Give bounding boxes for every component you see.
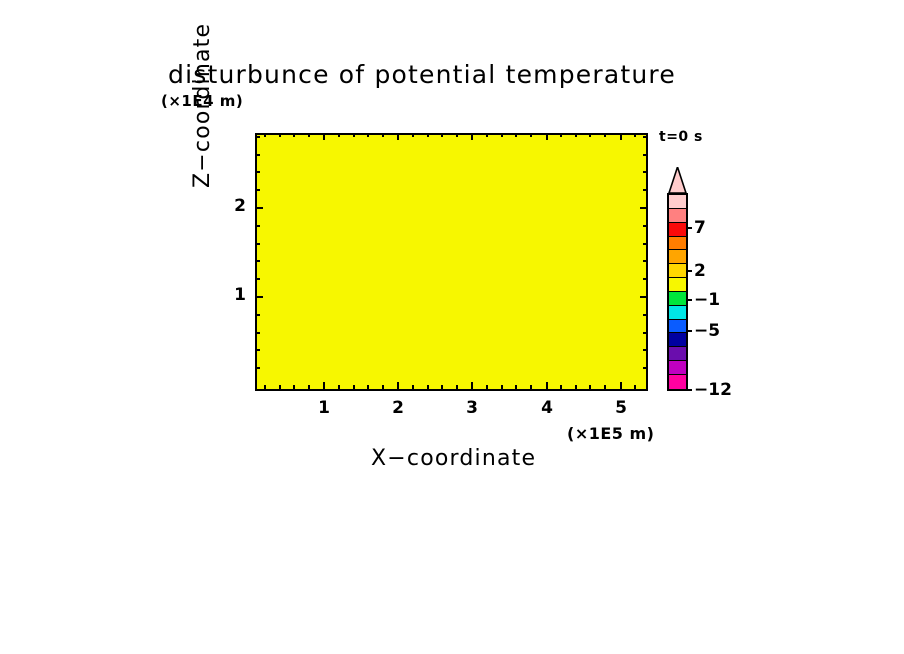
- x-axis-minor-tick: [264, 385, 266, 390]
- x-axis-minor-tick: [515, 385, 517, 390]
- y-axis-minor-tick: [643, 225, 647, 227]
- x-axis-minor-tick: [427, 133, 429, 137]
- x-axis-minor-tick: [604, 133, 606, 137]
- x-axis-minor-tick: [279, 133, 281, 137]
- x-axis-major-tick: [323, 382, 325, 390]
- y-axis-minor-tick: [255, 332, 260, 334]
- x-axis-minor-tick: [441, 385, 443, 390]
- plot-area[interactable]: [255, 133, 648, 391]
- y-axis-minor-tick: [643, 154, 647, 156]
- y-axis-minor-tick: [255, 260, 260, 262]
- colorbar-band-13: [669, 195, 686, 209]
- colorbar-band-4: [669, 320, 686, 334]
- x-axis-minor-tick: [279, 385, 281, 390]
- x-axis-minor-tick: [589, 385, 591, 390]
- colorbar-band-10: [669, 237, 686, 251]
- x-axis-minor-tick: [530, 133, 532, 137]
- colorbar-band-8: [669, 264, 686, 278]
- colorbar-tick-label: 7: [694, 218, 706, 238]
- colorbar-band-3: [669, 333, 686, 347]
- x-axis-minor-tick: [353, 385, 355, 390]
- x-axis-minor-tick: [604, 385, 606, 390]
- colorbar-tick: [688, 227, 692, 229]
- x-axis-minor-tick: [367, 133, 369, 137]
- y-axis-minor-tick: [643, 189, 647, 191]
- colorbar-band-12: [669, 209, 686, 223]
- y-axis-major-tick: [640, 296, 647, 298]
- colorbar-tick-label: −12: [694, 380, 732, 400]
- colorbar-tick-label: −1: [694, 290, 720, 310]
- x-axis-minor-tick: [293, 133, 295, 137]
- y-axis-minor-tick: [255, 225, 260, 227]
- colorbar-extend-arrow-icon: [667, 167, 688, 193]
- colorbar-tick: [688, 389, 692, 391]
- y-axis-minor-tick: [643, 243, 647, 245]
- y-axis-tick-label: 2: [222, 196, 246, 216]
- x-axis-minor-tick: [486, 133, 488, 137]
- y-axis-minor-tick: [643, 314, 647, 316]
- colorbar-band-5: [669, 306, 686, 320]
- y-axis-minor-tick: [643, 367, 647, 369]
- x-axis-major-tick: [397, 133, 399, 140]
- x-axis-minor-tick: [456, 133, 458, 137]
- colorbar-band-11: [669, 223, 686, 237]
- x-axis-minor-tick: [427, 385, 429, 390]
- x-axis-minor-tick: [412, 385, 414, 390]
- x-axis-major-tick: [620, 133, 622, 140]
- y-axis-minor-tick: [255, 189, 260, 191]
- y-axis-minor-tick: [643, 278, 647, 280]
- x-axis-unit-label: (×1E5 m): [567, 424, 654, 443]
- y-axis-major-tick: [255, 296, 263, 298]
- colorbar-band-1: [669, 361, 686, 375]
- y-axis-major-tick: [255, 207, 263, 209]
- x-axis-minor-tick: [338, 385, 340, 390]
- y-axis-minor-tick: [643, 332, 647, 334]
- x-axis-minor-tick: [575, 385, 577, 390]
- x-axis-minor-tick: [501, 133, 503, 137]
- x-axis-major-tick: [620, 382, 622, 390]
- x-axis-minor-tick: [530, 385, 532, 390]
- y-axis-minor-tick: [255, 171, 260, 173]
- contour-field-fill: [257, 135, 646, 389]
- x-axis-minor-tick: [308, 385, 310, 390]
- colorbar-tick: [688, 330, 692, 332]
- y-axis-minor-tick: [255, 278, 260, 280]
- y-axis-minor-tick: [643, 171, 647, 173]
- x-axis-minor-tick: [293, 385, 295, 390]
- x-axis-major-tick: [323, 133, 325, 140]
- x-axis-tick-label: 4: [535, 398, 559, 418]
- x-axis-minor-tick: [441, 133, 443, 137]
- colorbar-tick: [688, 270, 692, 272]
- colorbar-band-2: [669, 347, 686, 361]
- x-axis-minor-tick: [589, 133, 591, 137]
- x-axis-major-tick: [471, 133, 473, 140]
- x-axis-minor-tick: [338, 133, 340, 137]
- colorbar-band-9: [669, 250, 686, 264]
- x-axis-minor-tick: [501, 385, 503, 390]
- colorbar-tick: [688, 299, 692, 301]
- x-axis-minor-tick: [634, 133, 636, 137]
- y-axis-minor-tick: [255, 154, 260, 156]
- y-axis-tick-label: 1: [222, 285, 246, 305]
- page-title: disturbunce of potential temperature: [168, 60, 676, 89]
- x-axis-minor-tick: [412, 133, 414, 137]
- y-axis-minor-tick: [255, 136, 260, 138]
- x-axis-minor-tick: [486, 385, 488, 390]
- x-axis-minor-tick: [560, 133, 562, 137]
- y-axis-minor-tick: [255, 314, 260, 316]
- x-axis-major-tick: [546, 133, 548, 140]
- x-axis-minor-tick: [575, 133, 577, 137]
- x-axis-minor-tick: [353, 133, 355, 137]
- x-axis-tick-label: 2: [386, 398, 410, 418]
- x-axis-title: X−coordinate: [371, 446, 536, 471]
- x-axis-minor-tick: [634, 385, 636, 390]
- colorbar-band-7: [669, 278, 686, 292]
- time-stamp-label: t=0 s: [659, 129, 703, 145]
- x-axis-minor-tick: [560, 385, 562, 390]
- colorbar-bands: [667, 193, 688, 391]
- x-axis-minor-tick: [456, 385, 458, 390]
- colorbar-band-0: [669, 375, 686, 389]
- y-axis-minor-tick: [643, 349, 647, 351]
- x-axis-minor-tick: [367, 385, 369, 390]
- colorbar-tick-label: 2: [694, 261, 706, 281]
- x-axis-major-tick: [546, 382, 548, 390]
- x-axis-minor-tick: [515, 133, 517, 137]
- y-axis-major-tick: [640, 207, 647, 209]
- figure-canvas: disturbunce of potential temperature (×1…: [0, 0, 904, 654]
- colorbar[interactable]: [667, 167, 688, 391]
- y-axis-minor-tick: [255, 367, 260, 369]
- x-axis-major-tick: [471, 382, 473, 390]
- y-axis-title: Z−coordinate: [190, 0, 215, 188]
- x-axis-minor-tick: [308, 133, 310, 137]
- x-axis-minor-tick: [264, 133, 266, 137]
- y-axis-minor-tick: [255, 349, 260, 351]
- x-axis-major-tick: [397, 382, 399, 390]
- colorbar-band-6: [669, 292, 686, 306]
- colorbar-tick-label: −5: [694, 321, 720, 341]
- y-axis-minor-tick: [255, 243, 260, 245]
- x-axis-tick-label: 3: [460, 398, 484, 418]
- x-axis-tick-label: 5: [609, 398, 633, 418]
- x-axis-minor-tick: [382, 133, 384, 137]
- x-axis-tick-label: 1: [312, 398, 336, 418]
- y-axis-minor-tick: [643, 136, 647, 138]
- x-axis-minor-tick: [382, 385, 384, 390]
- y-axis-minor-tick: [643, 260, 647, 262]
